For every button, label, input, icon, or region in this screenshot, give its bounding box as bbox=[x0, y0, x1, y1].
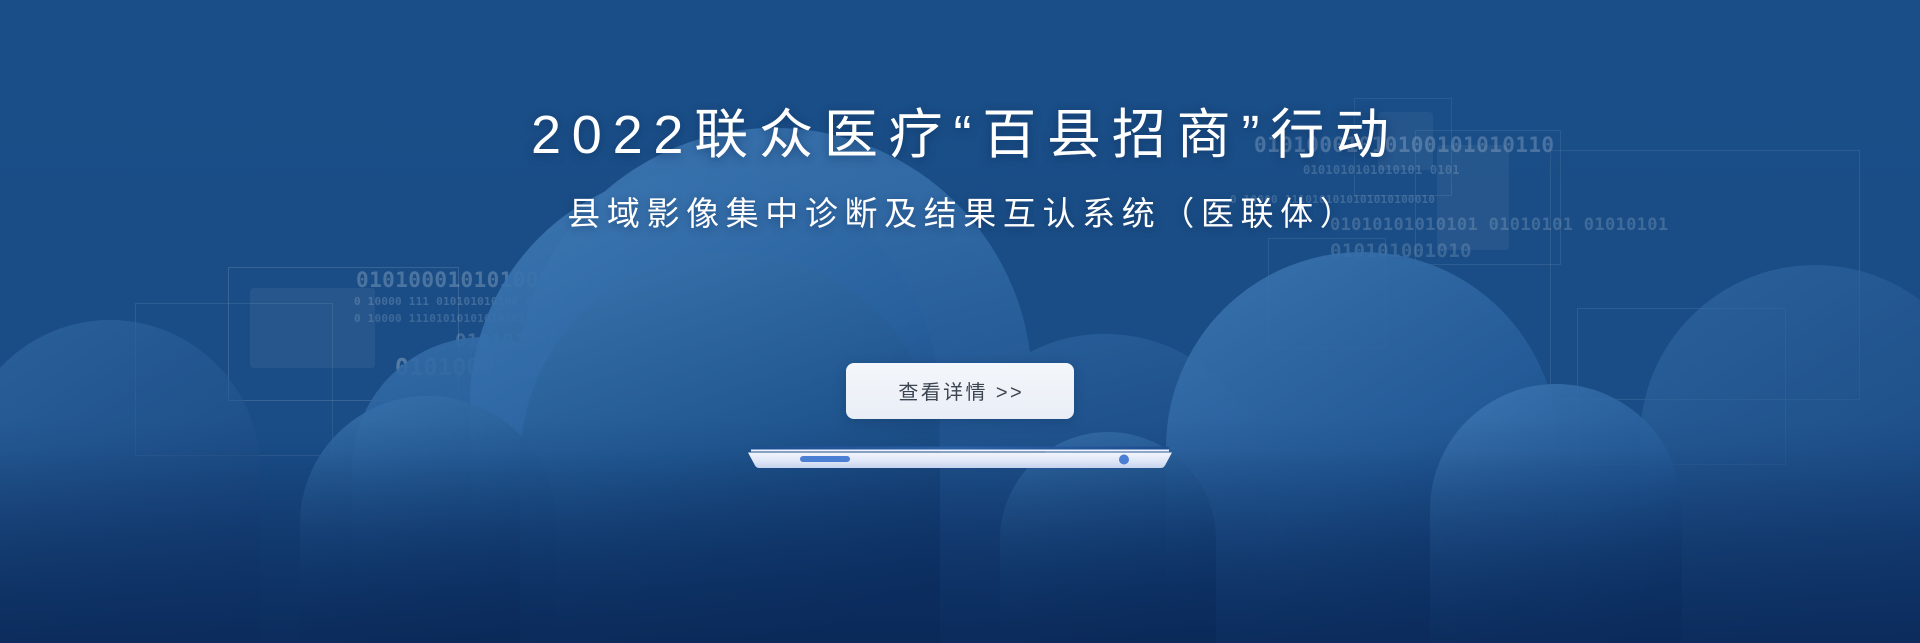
laptop-hinge-seam bbox=[751, 447, 1169, 450]
laptop-camera-dot bbox=[1119, 455, 1129, 465]
laptop-base-illustration bbox=[748, 446, 1172, 472]
page-title: 2022联众医疗“百县招商”行动 bbox=[0, 104, 1920, 168]
cta-container: 查看详情 >> bbox=[0, 363, 1920, 419]
background-vignette bbox=[0, 0, 1920, 643]
laptop-gap bbox=[751, 450, 1169, 452]
page-subtitle: 县域影像集中诊断及结果互认系统（医联体） bbox=[0, 194, 1920, 234]
view-details-button[interactable]: 查看详情 >> bbox=[846, 363, 1074, 419]
promo-banner: 01010001010100101010110 0 10000 111 0101… bbox=[0, 0, 1920, 643]
laptop-indicator bbox=[800, 456, 850, 462]
headline-block: 2022联众医疗“百县招商”行动 县域影像集中诊断及结果互认系统（医联体） bbox=[0, 104, 1920, 233]
